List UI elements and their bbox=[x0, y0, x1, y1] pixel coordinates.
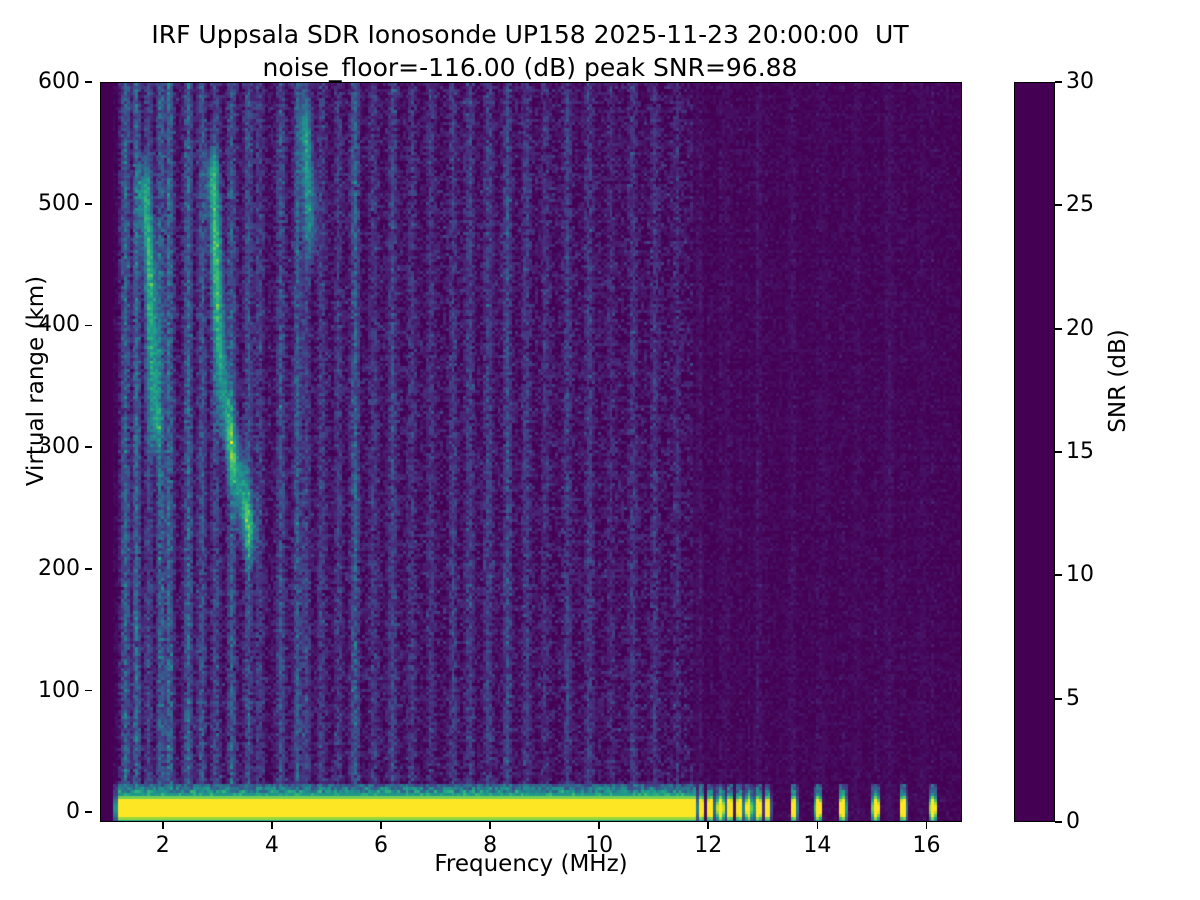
y-tick-mark bbox=[85, 81, 92, 83]
x-tick-mark bbox=[489, 822, 491, 829]
x-tick-mark bbox=[817, 822, 819, 829]
y-tick-mark bbox=[85, 811, 92, 813]
x-tick-mark bbox=[380, 822, 382, 829]
x-tick-mark bbox=[162, 822, 164, 829]
colorbar-tick-mark bbox=[1055, 204, 1062, 206]
x-tick-mark bbox=[926, 822, 928, 829]
colorbar-tick-mark bbox=[1055, 451, 1062, 453]
colorbar-tick-mark bbox=[1055, 574, 1062, 576]
x-tick-mark bbox=[707, 822, 709, 829]
y-tick-mark bbox=[85, 325, 92, 327]
ionogram-plot-area bbox=[100, 82, 962, 822]
ionogram-heatmap-canvas bbox=[101, 83, 962, 822]
x-tick-mark bbox=[271, 822, 273, 829]
colorbar-tick-mark bbox=[1055, 698, 1062, 700]
colorbar-tick-label: 20 bbox=[1066, 316, 1094, 341]
colorbar-tick-mark bbox=[1055, 81, 1062, 83]
x-axis-label: Frequency (MHz) bbox=[100, 851, 962, 877]
y-tick-mark bbox=[85, 446, 92, 448]
x-tick-mark bbox=[598, 822, 600, 829]
colorbar-tick-mark bbox=[1055, 328, 1062, 330]
snr-colorbar bbox=[1014, 82, 1055, 822]
colorbar-tick-label: 5 bbox=[1066, 686, 1080, 711]
colorbar-tick-label: 10 bbox=[1066, 562, 1094, 587]
y-tick-label: 0 bbox=[66, 799, 80, 824]
y-tick-mark bbox=[85, 203, 92, 205]
ionogram-figure: IRF Uppsala SDR Ionosonde UP158 2025-11-… bbox=[0, 0, 1200, 900]
colorbar-tick-label: 30 bbox=[1066, 69, 1094, 94]
colorbar-tick-label: 15 bbox=[1066, 439, 1094, 464]
figure-title: IRF Uppsala SDR Ionosonde UP158 2025-11-… bbox=[0, 18, 1060, 84]
title-line-1: IRF Uppsala SDR Ionosonde UP158 2025-11-… bbox=[0, 18, 1060, 51]
y-tick-mark bbox=[85, 568, 92, 570]
title-line-2: noise_floor=-116.00 (dB) peak SNR=96.88 bbox=[0, 51, 1060, 84]
y-tick-mark bbox=[85, 690, 92, 692]
colorbar-gradient bbox=[1015, 83, 1054, 821]
colorbar-tick-label: 0 bbox=[1066, 809, 1080, 834]
y-axis-label: Virtual range (km) bbox=[23, 11, 49, 751]
colorbar-label: SNR (dB) bbox=[1105, 11, 1131, 751]
colorbar-tick-label: 25 bbox=[1066, 192, 1094, 217]
colorbar-tick-mark bbox=[1055, 821, 1062, 823]
